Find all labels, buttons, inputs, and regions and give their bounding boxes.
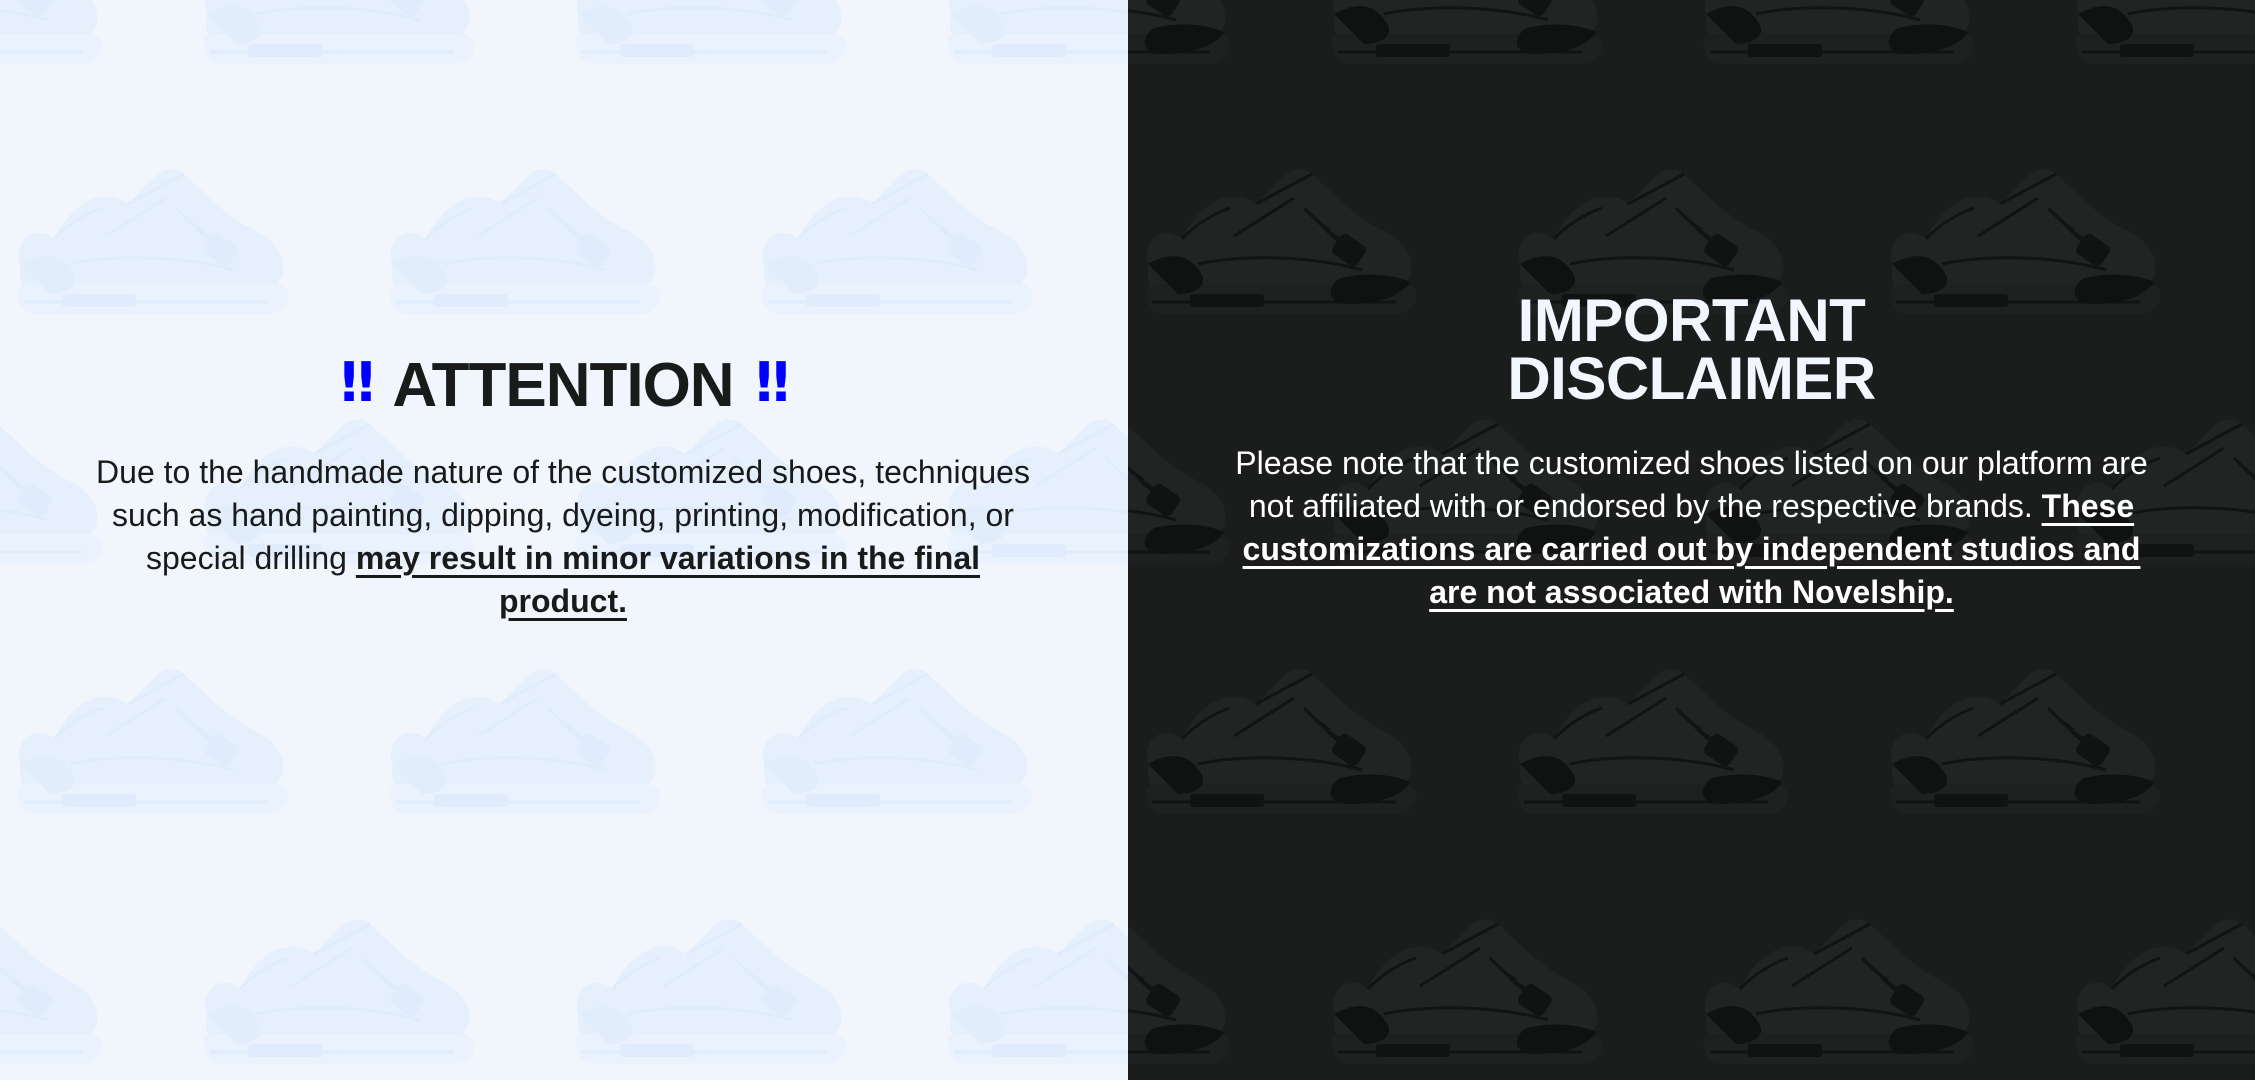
attention-content: ‼ ATTENTION ‼ Due to the handmade nature… [94, 355, 1032, 623]
disclaimer-banner: ‼ ATTENTION ‼ Due to the handmade nature… [0, 0, 2255, 1080]
attention-heading: ‼ ATTENTION ‼ [94, 355, 1032, 417]
double-exclamation-icon-left: ‼ [341, 356, 371, 410]
disclaimer-heading: IMPORTANT DISCLAIMER [1223, 292, 2160, 408]
attention-panel: ‼ ATTENTION ‼ Due to the handmade nature… [0, 0, 1128, 1080]
disclaimer-heading-line1: IMPORTANT [1518, 287, 1866, 354]
attention-heading-text: ATTENTION [392, 355, 733, 417]
disclaimer-body-plain: Please note that the customized shoes li… [1235, 445, 2148, 524]
disclaimer-heading-line2: DISCLAIMER [1223, 350, 2160, 408]
double-exclamation-icon-right: ‼ [756, 356, 786, 410]
attention-body: Due to the handmade nature of the custom… [94, 451, 1032, 623]
attention-body-emphasis: may result in minor variations in the fi… [356, 540, 980, 619]
disclaimer-panel: IMPORTANT DISCLAIMER Please note that th… [1128, 0, 2255, 1080]
disclaimer-content: IMPORTANT DISCLAIMER Please note that th… [1223, 292, 2160, 614]
disclaimer-body: Please note that the customized shoes li… [1223, 442, 2160, 614]
